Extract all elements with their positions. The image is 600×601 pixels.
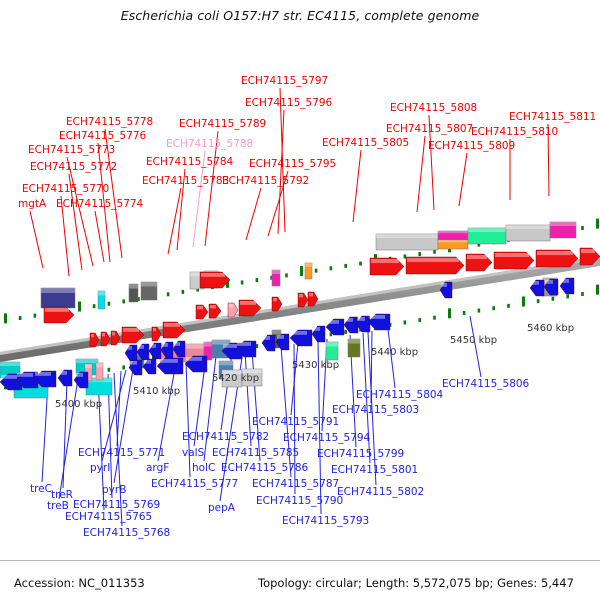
forward-label-ech74115_5811[interactable]: ECH74115_5811 — [509, 112, 596, 123]
tick-mark-lower — [448, 308, 451, 318]
gene-highlight — [59, 371, 67, 375]
tick-mark-upper — [315, 269, 318, 273]
accession-text: Accession: NC_011353 — [14, 576, 145, 590]
tick-mark-upper — [300, 266, 303, 276]
leader-line — [67, 157, 93, 266]
gene-highlight — [545, 280, 553, 284]
forward-label-ech74115_5809[interactable]: ECH74115_5809 — [428, 141, 515, 152]
tick-mark-upper — [78, 302, 81, 312]
leader-line — [186, 361, 190, 477]
block-highlight — [376, 234, 438, 238]
tick-mark-upper — [108, 302, 111, 306]
axis-tick-label: 5400 kbp — [55, 399, 102, 410]
gene-highlight — [197, 306, 203, 309]
gene-highlight — [174, 342, 180, 346]
reverse-label-ech74115_5802[interactable]: ECH74115_5802 — [337, 487, 424, 498]
leader-line — [353, 150, 361, 222]
gene-highlight — [102, 333, 105, 336]
tick-mark-lower — [552, 297, 555, 301]
gene-highlight — [91, 334, 94, 337]
gene-highlight — [291, 331, 307, 335]
reverse-label-ech74115_5785[interactable]: ECH74115_5785 — [212, 448, 299, 459]
gene-highlight — [237, 342, 251, 346]
forward-label-ech74115_5807[interactable]: ECH74115_5807 — [386, 124, 473, 135]
reverse-label-ech74115_5782[interactable]: ECH74115_5782 — [182, 432, 269, 443]
axis-tick-label: 5430 kbp — [292, 360, 339, 371]
forward-label-mgta[interactable]: mgtA — [18, 199, 46, 210]
gene-highlight — [162, 343, 168, 347]
block-highlight — [219, 361, 233, 365]
reverse-label-pyrb[interactable]: pyrB — [102, 485, 126, 496]
forward-label-ech74115_5774[interactable]: ECH74115_5774 — [56, 199, 143, 210]
gene-highlight — [223, 344, 237, 348]
reverse-label-vals[interactable]: valS — [182, 448, 204, 459]
leader-line — [117, 371, 121, 446]
axis-tick-label: 5420 kbp — [212, 373, 259, 384]
tick-mark-lower — [566, 294, 569, 298]
block-highlight — [272, 270, 280, 274]
forward-label-ech74115_5797[interactable]: ECH74115_5797 — [241, 76, 328, 87]
gene-highlight — [17, 373, 33, 377]
gene-highlight — [164, 323, 180, 327]
gene-highlight — [263, 336, 270, 340]
reverse-label-ech74115_5771[interactable]: ECH74115_5771 — [78, 448, 165, 459]
reverse-label-ech74115_5765[interactable]: ECH74115_5765 — [65, 512, 152, 523]
tick-mark-upper — [182, 290, 185, 294]
block-highlight — [326, 342, 338, 347]
forward-label-ech74115_5773[interactable]: ECH74115_5773 — [28, 145, 115, 156]
reverse-strand-genes[interactable] — [0, 278, 574, 390]
tick-mark-lower — [478, 309, 481, 313]
leader-line — [388, 329, 395, 388]
tick-mark-upper — [359, 262, 362, 266]
leader-line — [95, 211, 104, 262]
reverse-label-ech74115_5806[interactable]: ECH74115_5806 — [442, 379, 529, 390]
gene-highlight — [240, 301, 256, 305]
gene-highlight — [561, 279, 569, 283]
axis-tick-label: 5410 kbp — [133, 386, 180, 397]
gene-highlight — [581, 249, 595, 253]
forward-label-ech74115_5788[interactable]: ECH74115_5788 — [166, 139, 253, 150]
block-highlight — [468, 228, 506, 232]
forward-label-ech74115_5810[interactable]: ECH74115_5810 — [471, 127, 558, 138]
tick-mark-upper — [4, 313, 7, 323]
gene-highlight — [153, 328, 156, 331]
forward-label-ech74115_5778[interactable]: ECH74115_5778 — [66, 117, 153, 128]
forward-label-ech74115_5789[interactable]: ECH74115_5789 — [179, 119, 266, 130]
tick-mark-upper — [241, 280, 244, 284]
gene-highlight — [144, 360, 151, 364]
forward-label-ech74115_5792[interactable]: ECH74115_5792 — [222, 176, 309, 187]
gene-highlight — [150, 344, 156, 348]
block-highlight — [204, 342, 212, 347]
forward-label-ech74115_5796[interactable]: ECH74115_5796 — [245, 98, 332, 109]
block-highlight — [438, 231, 468, 233]
gene-highlight — [537, 251, 573, 255]
tick-mark-upper — [93, 304, 96, 308]
tick-mark-upper — [344, 264, 347, 268]
reverse-label-trec[interactable]: treC — [30, 484, 52, 495]
gene-highlight — [495, 253, 529, 257]
forward-label-ech74115_5783[interactable]: ECH74115_5783 — [142, 176, 229, 187]
block-highlight — [129, 284, 138, 289]
reverse-label-pepa[interactable]: pepA — [208, 503, 235, 514]
reverse-label-ech74115_5799[interactable]: ECH74115_5799 — [317, 449, 404, 460]
block-highlight — [96, 363, 103, 367]
tick-mark-lower — [122, 365, 125, 369]
reverse-label-ech74115_5768[interactable]: ECH74115_5768 — [83, 528, 170, 539]
tick-mark-upper — [418, 252, 421, 256]
block-highlight — [76, 359, 98, 363]
leader-line — [470, 316, 481, 377]
gene-highlight — [467, 255, 487, 259]
gene-highlight — [158, 359, 178, 363]
block-highlight — [438, 240, 468, 242]
tick-mark-lower — [433, 316, 436, 320]
gene-highlight — [407, 258, 459, 262]
tick-mark-upper — [596, 219, 599, 229]
tick-mark-lower — [522, 296, 525, 306]
leader-line — [168, 188, 181, 254]
block-highlight — [141, 282, 157, 287]
forward-label-ech74115_5776[interactable]: ECH74115_5776 — [59, 131, 146, 142]
block-highlight — [348, 339, 360, 344]
reverse-label-ech74115_5787[interactable]: ECH74115_5787 — [252, 479, 339, 490]
gene-highlight — [123, 328, 139, 332]
leader-line — [59, 379, 78, 499]
gene-highlight — [186, 357, 202, 361]
reverse-label-ech74115_5803[interactable]: ECH74115_5803 — [332, 405, 419, 416]
gene-highlight — [313, 327, 320, 331]
axis-tick-label: 5460 kbp — [527, 323, 574, 334]
gene-highlight — [1, 375, 17, 379]
tick-mark-lower — [418, 318, 421, 322]
reverse-label-ech74115_5777[interactable]: ECH74115_5777 — [151, 479, 238, 490]
tick-mark-upper — [256, 278, 259, 282]
gene-highlight — [126, 346, 132, 350]
topology-text: Topology: circular; Length: 5,572,075 bp… — [258, 576, 574, 590]
reverse-label-holc[interactable]: holC — [192, 463, 215, 474]
block-highlight — [212, 340, 230, 345]
gene-highlight — [130, 361, 137, 365]
tick-mark-upper — [285, 273, 288, 277]
gene-highlight — [299, 294, 303, 297]
gene-highlight — [229, 304, 233, 307]
tick-mark-lower — [404, 320, 407, 324]
tick-mark-upper — [19, 316, 22, 320]
tick-mark-lower — [537, 299, 540, 303]
gene-highlight — [357, 317, 365, 321]
gene-highlight — [345, 318, 353, 322]
gene-highlight — [35, 372, 51, 376]
gene-highlight — [75, 373, 83, 377]
tick-mark-lower — [492, 306, 495, 310]
block-highlight — [506, 225, 550, 229]
tick-mark-upper — [122, 299, 125, 303]
gene-highlight — [45, 308, 69, 312]
reverse-label-ech74115_5801[interactable]: ECH74115_5801 — [331, 465, 418, 476]
gene-highlight — [531, 281, 539, 285]
tick-mark-lower — [596, 285, 599, 295]
gene-highlight — [273, 298, 277, 301]
block-highlight — [550, 222, 576, 226]
tick-mark-upper — [581, 226, 584, 230]
leader-line — [30, 211, 43, 268]
forward-label-ech74115_5808[interactable]: ECH74115_5808 — [390, 103, 477, 114]
tick-mark-lower — [463, 311, 466, 315]
block-highlight — [98, 291, 105, 296]
forward-label-ech74115_5772[interactable]: ECH74115_5772 — [30, 162, 117, 173]
leader-line — [246, 188, 261, 240]
reverse-label-ech74115_5790[interactable]: ECH74115_5790 — [256, 496, 343, 507]
gene-highlight — [201, 273, 225, 277]
reverse-label-ech74115_5786[interactable]: ECH74115_5786 — [221, 463, 308, 474]
block-highlight — [0, 362, 20, 366]
forward-label-ech74115_5805[interactable]: ECH74115_5805 — [322, 138, 409, 149]
block-highlight — [41, 288, 75, 293]
gene-highlight — [371, 259, 399, 263]
reverse-label-ech74115_5769[interactable]: ECH74115_5769 — [73, 500, 160, 511]
forward-label-ech74115_5770[interactable]: ECH74115_5770 — [22, 184, 109, 195]
leader-line — [459, 153, 467, 206]
reverse-label-argf[interactable]: argF — [146, 463, 169, 474]
reverse-label-pyri[interactable]: pyrI — [90, 463, 110, 474]
gene-highlight — [369, 315, 385, 319]
leader-line — [252, 350, 260, 461]
tick-mark-upper — [330, 266, 333, 270]
axis-tick-label: 5440 kbp — [371, 347, 418, 358]
forward-label-ech74115_5795[interactable]: ECH74115_5795 — [249, 159, 336, 170]
tick-mark-lower — [507, 304, 510, 308]
genome-viewer-panel[interactable]: Escherichia coli O157:H7 str. EC4115, co… — [0, 0, 600, 600]
gene-highlight — [309, 293, 313, 296]
tick-mark-upper — [167, 292, 170, 296]
reverse-label-ech74115_5791[interactable]: ECH74115_5791 — [252, 417, 339, 428]
reverse-label-ech74115_5794[interactable]: ECH74115_5794 — [283, 433, 370, 444]
forward-label-ech74115_5784[interactable]: ECH74115_5784 — [146, 157, 233, 168]
tick-mark-upper — [433, 250, 436, 254]
gene-highlight — [327, 320, 339, 324]
gene-highlight — [112, 332, 115, 335]
leader-line — [417, 136, 425, 212]
reverse-label-ech74115_5793[interactable]: ECH74115_5793 — [282, 516, 369, 527]
tick-mark-lower — [581, 292, 584, 296]
block-highlight — [85, 364, 92, 368]
axis-tick-label: 5450 kbp — [450, 335, 497, 346]
status-bar: Accession: NC_011353 Topology: circular;… — [0, 560, 600, 601]
gene-highlight — [441, 283, 447, 287]
gene-highlight — [277, 335, 284, 339]
reverse-label-ech74115_5804[interactable]: ECH74115_5804 — [356, 390, 443, 401]
gene-highlight — [138, 345, 144, 349]
gene-highlight — [210, 305, 216, 308]
tick-mark-upper — [34, 314, 37, 318]
block-highlight — [272, 330, 281, 335]
tick-mark-lower — [108, 368, 111, 372]
tick-mark-lower — [344, 330, 347, 334]
block-highlight — [305, 263, 312, 267]
